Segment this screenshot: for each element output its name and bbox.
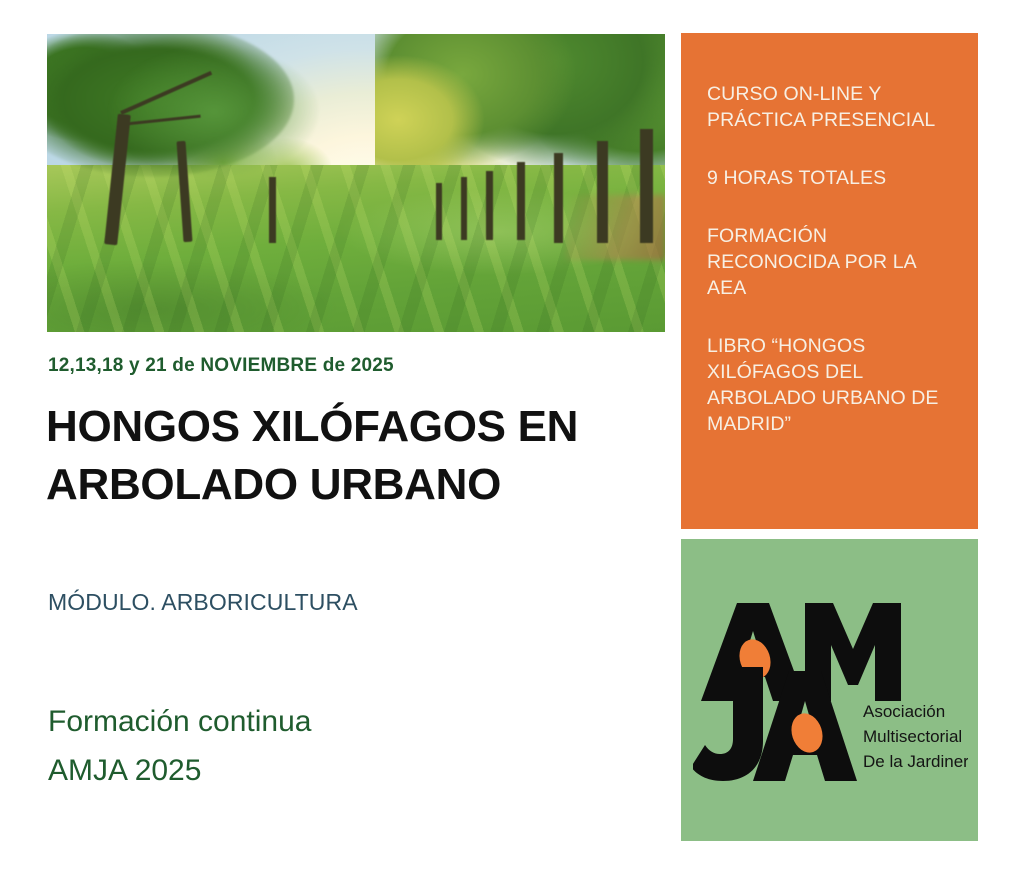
photo-tree-canopy bbox=[109, 46, 319, 177]
program-signature-line-1: Formación continua bbox=[48, 697, 311, 746]
photo-tree-trunk bbox=[554, 153, 563, 242]
photo-tree-trunk bbox=[517, 162, 525, 239]
photo-tree-trunk bbox=[461, 177, 467, 240]
program-signature: Formación continua AMJA 2025 bbox=[48, 697, 311, 795]
course-dates: 12,13,18 y 21 de NOVIEMBRE de 2025 bbox=[48, 355, 394, 377]
photo-tree-trunk bbox=[486, 171, 493, 240]
info-item-accreditation: FORMACIÓN RECONOCIDA POR LA AEA bbox=[707, 223, 954, 301]
amja-tagline-line-3: De la Jardinería Andaluza bbox=[863, 752, 968, 771]
info-item-duration: 9 HORAS TOTALES bbox=[707, 165, 954, 191]
photo-tree-trunk bbox=[436, 183, 442, 240]
info-item-modality: CURSO ON-LINE Y PRÁCTICA PRESENCIAL bbox=[707, 81, 954, 133]
park-landscape-photo bbox=[47, 34, 665, 332]
photo-tree-trunk bbox=[269, 177, 276, 243]
module-label: MÓDULO. ARBORICULTURA bbox=[48, 589, 358, 616]
page-title-line-2: ARBOLADO URBANO bbox=[46, 456, 646, 514]
info-item-book: LIBRO “HONGOS XILÓFAGOS DEL ARBOLADO URB… bbox=[707, 333, 954, 437]
photo-tree-trunk bbox=[640, 129, 652, 242]
course-info-panel: CURSO ON-LINE Y PRÁCTICA PRESENCIAL 9 HO… bbox=[681, 33, 978, 529]
amja-tagline-line-2: Multisectorial bbox=[863, 727, 962, 746]
page-title-line-1: HONGOS XILÓFAGOS EN bbox=[46, 398, 646, 456]
program-signature-line-2: AMJA 2025 bbox=[48, 746, 311, 795]
amja-tagline-line-1: Asociación bbox=[863, 702, 945, 721]
photo-tree-trunk bbox=[597, 141, 608, 242]
amja-logo: Asociación Multisectorial De la Jardiner… bbox=[693, 601, 968, 786]
page-title: HONGOS XILÓFAGOS EN ARBOLADO URBANO bbox=[46, 398, 646, 514]
amja-logo-panel: Asociación Multisectorial De la Jardiner… bbox=[681, 539, 978, 841]
